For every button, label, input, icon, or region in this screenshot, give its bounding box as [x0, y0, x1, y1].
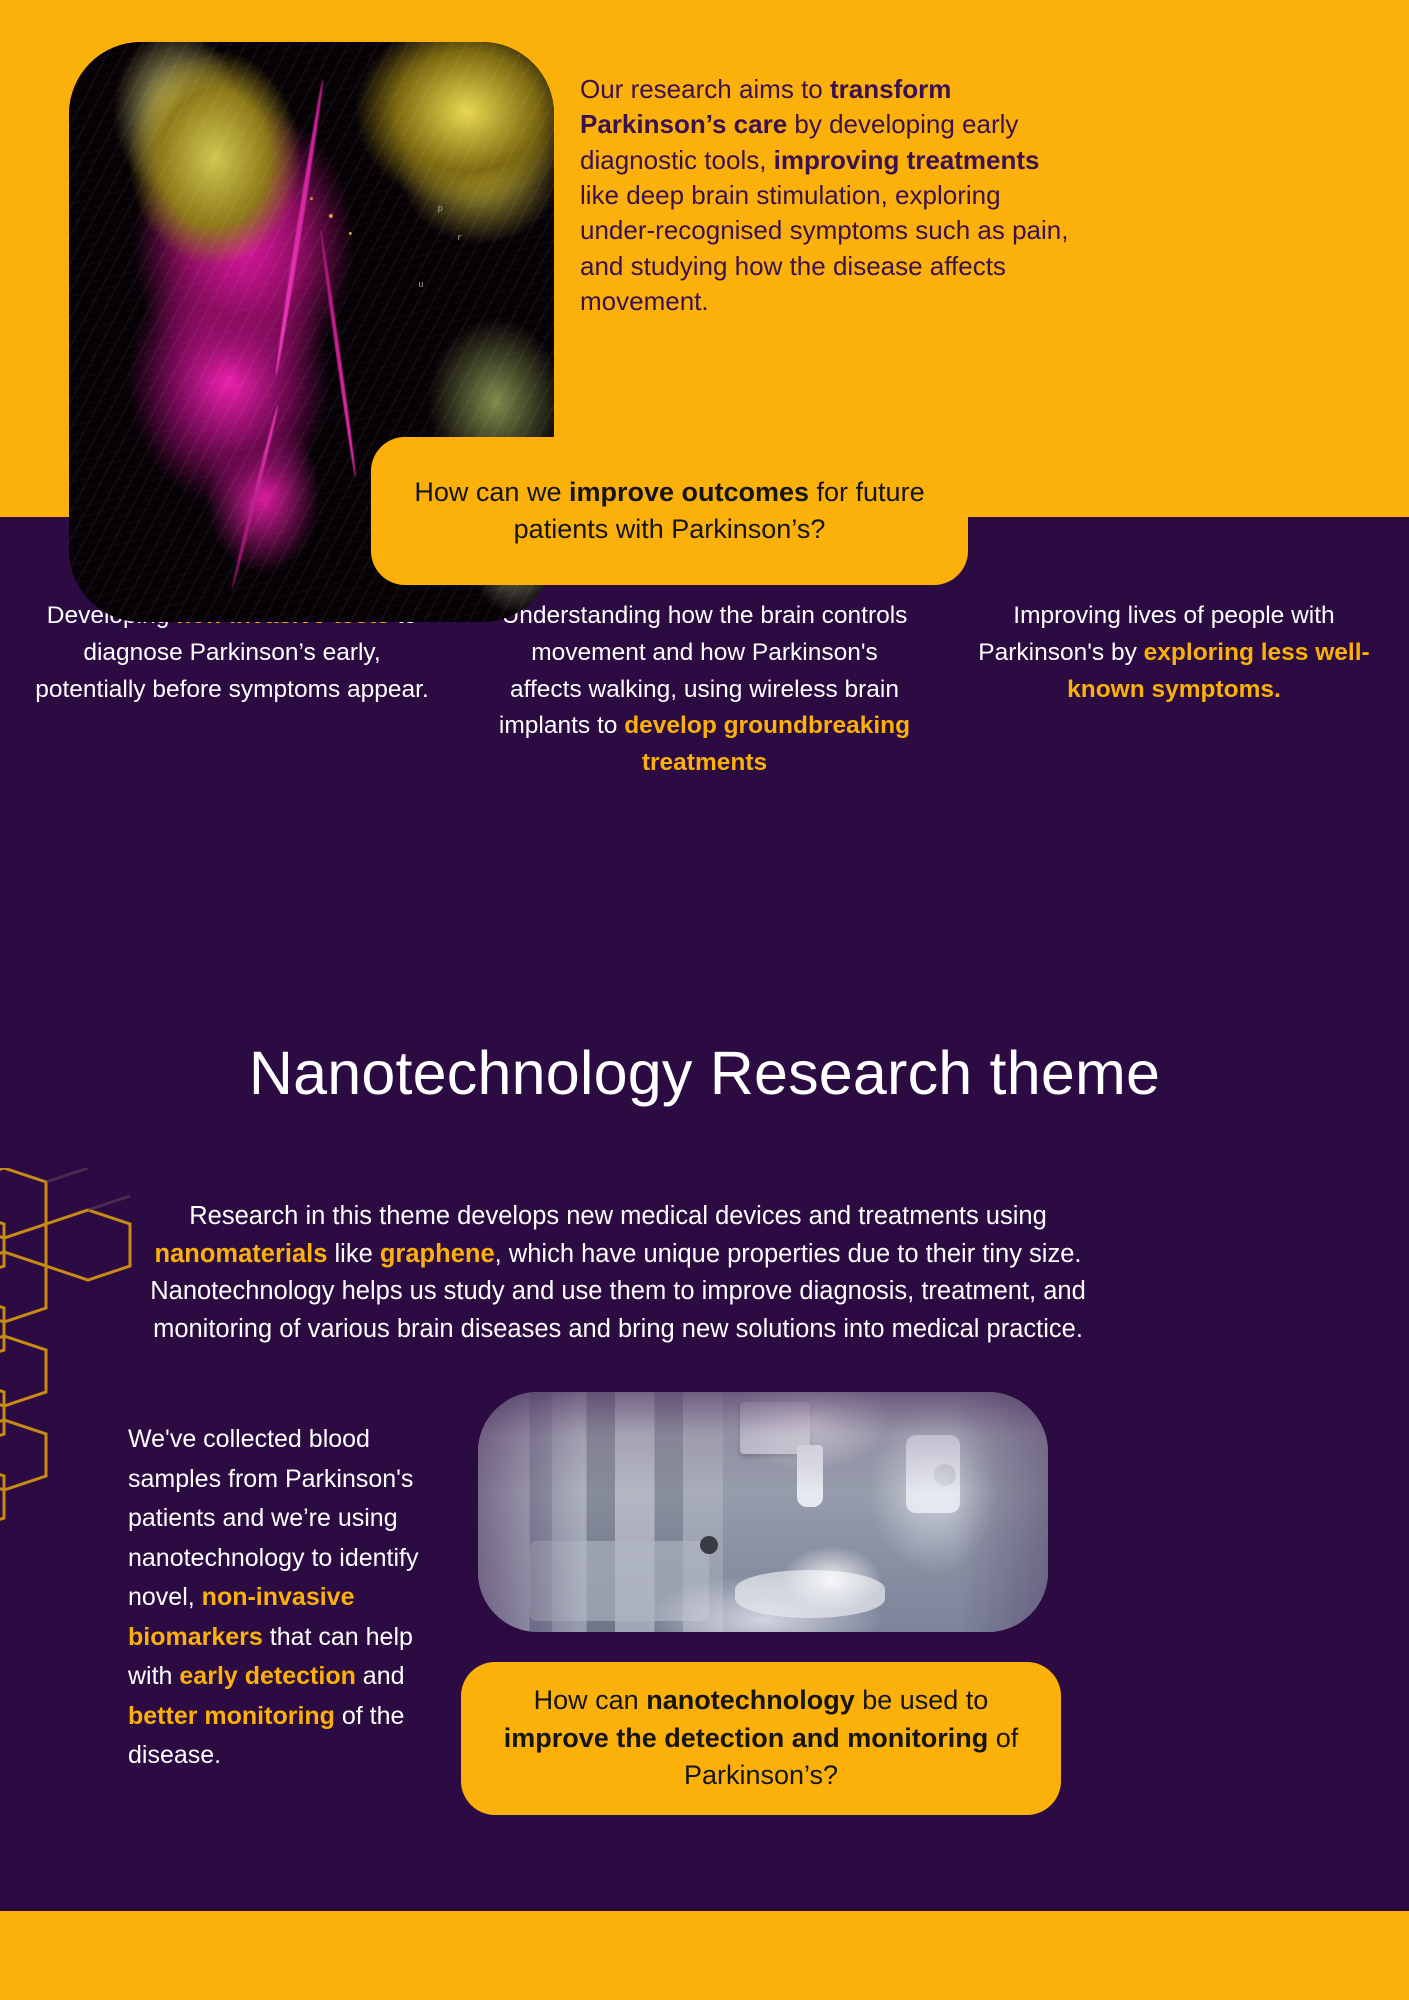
- scan-annotation: p: [438, 204, 444, 214]
- question-bubble-nanotechnology-text: How can nanotechnology be used to improv…: [483, 1682, 1039, 1795]
- text-bold: improve outcomes: [569, 477, 809, 507]
- text-bold: improving treatments: [774, 145, 1040, 175]
- nanotechnology-lab-image: [478, 1392, 1048, 1632]
- scan-annotation: u: [418, 280, 425, 290]
- question-bubble-outcomes: How can we improve outcomes for future p…: [371, 437, 968, 585]
- text-bold: nanotechnology: [646, 1685, 855, 1715]
- text-highlight: better monitoring: [128, 1702, 335, 1730]
- text-run: and: [356, 1662, 405, 1690]
- text-run: like deep brain stimulation, exploring u…: [580, 180, 1068, 316]
- text-run: be used to: [855, 1685, 989, 1715]
- question-bubble-nanotechnology: How can nanotechnology be used to improv…: [461, 1662, 1061, 1815]
- text-run: How can: [534, 1685, 647, 1715]
- text-run: Research in this theme develops new medi…: [189, 1202, 1047, 1230]
- column-brain-movement-implants: Understanding how the brain controls mov…: [470, 598, 939, 782]
- bottom-orange-band: [0, 1911, 1409, 2000]
- blood-samples-paragraph: We've collected blood samples from Parki…: [128, 1420, 453, 1776]
- intro-paragraph: Our research aims to transform Parkinson…: [580, 72, 1080, 320]
- research-aims-columns: Developing non-invasive tests to diagnos…: [0, 598, 1409, 782]
- text-run: How can we: [414, 477, 569, 507]
- theme-title: Nanotechnology Research theme: [0, 1038, 1409, 1108]
- text-highlight: early detection: [179, 1662, 355, 1690]
- text-run: Our research aims to: [580, 74, 830, 104]
- text-bold: improve the detection and monitoring: [504, 1723, 989, 1753]
- column-less-well-known-symptoms: Improving lives of people with Parkinson…: [939, 598, 1409, 782]
- text-run: like: [327, 1240, 379, 1268]
- column-non-invasive-tests: Developing non-invasive tests to diagnos…: [0, 598, 470, 782]
- theme-description: Research in this theme develops new medi…: [136, 1198, 1100, 1349]
- nano-image-tint: [478, 1392, 1048, 1632]
- text-highlight: nanomaterials: [155, 1240, 328, 1268]
- text-highlight: develop groundbreaking treatments: [624, 712, 910, 776]
- poster-page: p r u Our research aims to transform Par…: [0, 0, 1409, 2000]
- text-highlight: graphene: [380, 1240, 495, 1268]
- scan-annotation: r: [457, 233, 463, 243]
- question-bubble-outcomes-text: How can we improve outcomes for future p…: [397, 474, 942, 549]
